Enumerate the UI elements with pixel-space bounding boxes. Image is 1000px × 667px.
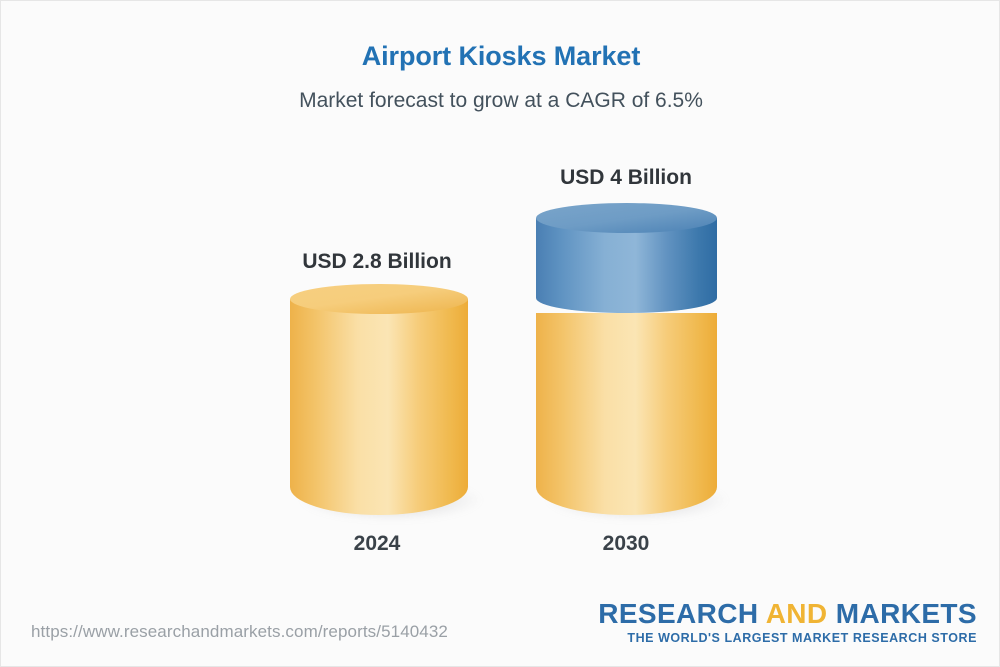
infographic-canvas: Airport Kiosks Market Market forecast to… <box>0 0 1000 667</box>
logo-markets-text: MARKETS <box>836 598 977 629</box>
logo-and-text: AND <box>766 598 828 629</box>
logo-research-text: RESEARCH <box>598 598 758 629</box>
chart-plot-area: USD 2.8 Billion <box>1 1 1000 601</box>
value-label-2024: USD 2.8 Billion <box>217 250 537 274</box>
logo-tagline: THE WORLD'S LARGEST MARKET RESEARCH STOR… <box>598 631 977 645</box>
cylinder-2024 <box>290 284 468 516</box>
logo-wordmark: RESEARCH AND MARKETS <box>598 599 977 628</box>
value-label-2030: USD 4 Billion <box>466 166 786 190</box>
research-and-markets-logo[interactable]: RESEARCH AND MARKETS THE WORLD'S LARGEST… <box>598 599 977 645</box>
cylinder-2030 <box>536 203 717 516</box>
report-url[interactable]: https://www.researchandmarkets.com/repor… <box>31 622 448 642</box>
category-label-2030: 2030 <box>466 532 786 556</box>
